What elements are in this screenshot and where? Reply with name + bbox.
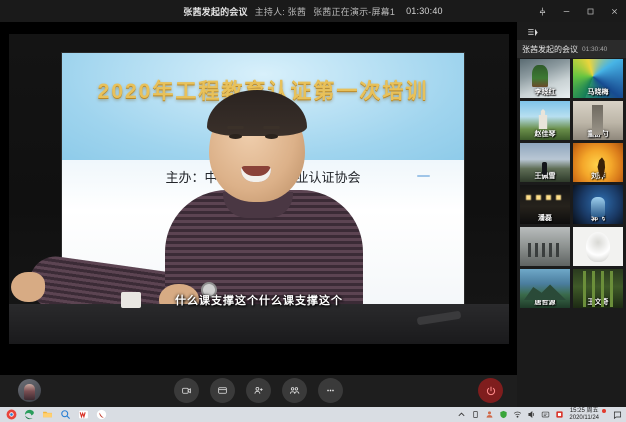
panel-elapsed-time: 01:30:40 (582, 46, 607, 53)
meeting-taskbar-icon[interactable] (96, 409, 107, 420)
participant-thumbnail[interactable]: 潘磊 (520, 185, 570, 224)
meeting-control-bar (0, 375, 517, 407)
participant-thumbnail[interactable] (520, 227, 570, 266)
taskbar-apps (0, 409, 107, 420)
participant-name: 王文奇 (573, 297, 623, 307)
meeting-elapsed-time: 01:30:40 (406, 6, 443, 16)
windows-taskbar: 15:25 周五 2020/11/24 (0, 407, 626, 422)
meeting-title: 张茜发起的会议 (183, 5, 247, 18)
window-controls (530, 0, 626, 22)
search-taskbar-icon[interactable] (60, 409, 71, 420)
participant-thumbnail[interactable]: 马晓梅 (573, 59, 623, 98)
participant-name: 马晓梅 (573, 87, 623, 97)
presenter-brow-left (227, 126, 244, 129)
participant-name: 赵佳琴 (520, 129, 570, 139)
presenter-brow-right (263, 126, 280, 129)
participants-panel: 张茜发起的会议 01:30:40 李晓红马晓梅赵佳琴童舒勺王佩雪刘萍潘磊郭飞唐哲… (517, 22, 626, 407)
panel-header: 张茜发起的会议 01:30:40 (517, 40, 626, 58)
more-button[interactable] (318, 378, 343, 403)
panel-toggle-icon[interactable] (523, 24, 543, 40)
participant-thumbnail[interactable]: 王文奇 (573, 269, 623, 308)
title-bar: 张茜发起的会议 主持人: 张茜 张茜正在演示-屏幕1 01:30:40 (0, 0, 626, 22)
participant-name: 郭飞 (573, 213, 623, 223)
participant-name: 王佩雪 (520, 171, 570, 181)
shared-screen-video[interactable]: 2020年工程教育认证第一次培训 主办：中国工程教育专业认证协会 承办：哈尔滨工… (9, 34, 509, 344)
participant-thumbnail[interactable]: 赵佳琴 (520, 101, 570, 140)
leave-meeting-button[interactable] (478, 378, 503, 403)
participant-thumbnail[interactable]: 王佩雪 (520, 143, 570, 182)
meeting-host: 主持人: 张茜 (255, 5, 306, 18)
pin-icon[interactable] (530, 0, 554, 22)
file-explorer-taskbar-icon[interactable] (42, 409, 53, 420)
taskbar-clock[interactable]: 15:25 周五 2020/11/24 (569, 408, 599, 421)
volume-tray-icon[interactable] (527, 410, 536, 419)
live-caption: 什么课支撑这个什么课支撑这个 (9, 292, 509, 308)
wps-taskbar-icon[interactable] (78, 409, 89, 420)
sharing-status: 张茜正在演示-屏幕1 (313, 5, 395, 18)
invite-button[interactable] (246, 378, 271, 403)
participant-thumbnail[interactable]: 郭飞 (573, 185, 623, 224)
clock-time: 15:25 (570, 408, 585, 414)
slide-marker (417, 175, 430, 177)
wifi-tray-icon[interactable] (513, 410, 522, 419)
participant-thumbnail[interactable]: 刘萍 (573, 143, 623, 182)
participant-name: 潘磊 (520, 213, 570, 223)
desk-surface (9, 304, 509, 344)
edge-taskbar-icon[interactable] (24, 409, 35, 420)
clock-day: 周五 (587, 408, 599, 414)
battery-tray-icon[interactable] (471, 410, 480, 419)
participant-name: 唐哲源 (520, 297, 570, 307)
participant-name: 刘萍 (573, 171, 623, 181)
participant-thumbnail-grid: 李晓红马晓梅赵佳琴童舒勺王佩雪刘萍潘磊郭飞唐哲源王文奇 (517, 59, 626, 308)
camera-button[interactable] (174, 378, 199, 403)
participant-thumbnail[interactable]: 李晓红 (520, 59, 570, 98)
participant-thumbnail[interactable]: 唐哲源 (520, 269, 570, 308)
share-screen-button[interactable] (210, 378, 235, 403)
presenter-eye-left (229, 134, 242, 139)
participant-name: 童舒勺 (573, 129, 623, 139)
control-buttons (0, 378, 517, 403)
ime-tray-icon[interactable] (541, 410, 550, 419)
participants-button[interactable] (282, 378, 307, 403)
chevron-up-tray-icon[interactable] (457, 410, 466, 419)
action-center-icon[interactable] (613, 410, 622, 419)
participant-thumbnail[interactable]: 童舒勺 (573, 101, 623, 140)
meeting-app-window: 张茜发起的会议 主持人: 张茜 张茜正在演示-屏幕1 01:30:40 (0, 0, 626, 422)
user-tray-icon[interactable] (485, 410, 494, 419)
taskbar-tray: 15:25 周五 2020/11/24 (457, 408, 626, 421)
video-stage[interactable]: 2020年工程教育认证第一次培训 主办：中国工程教育专业认证协会 承办：哈尔滨工… (0, 22, 517, 375)
notification-tray-icon[interactable] (555, 410, 564, 419)
close-icon[interactable] (602, 0, 626, 22)
presenter-hair (207, 90, 307, 136)
minimize-icon[interactable] (554, 0, 578, 22)
notification-badge (602, 409, 606, 413)
participant-name: 李晓红 (520, 87, 570, 97)
clock-date: 2020/11/24 (569, 415, 599, 422)
maximize-icon[interactable] (578, 0, 602, 22)
presenter-eye-right (265, 134, 278, 139)
participant-thumbnail[interactable] (573, 227, 623, 266)
panel-meeting-title: 张茜发起的会议 (522, 44, 578, 55)
chrome-taskbar-icon[interactable] (6, 409, 17, 420)
shield-tray-icon[interactable] (499, 410, 508, 419)
